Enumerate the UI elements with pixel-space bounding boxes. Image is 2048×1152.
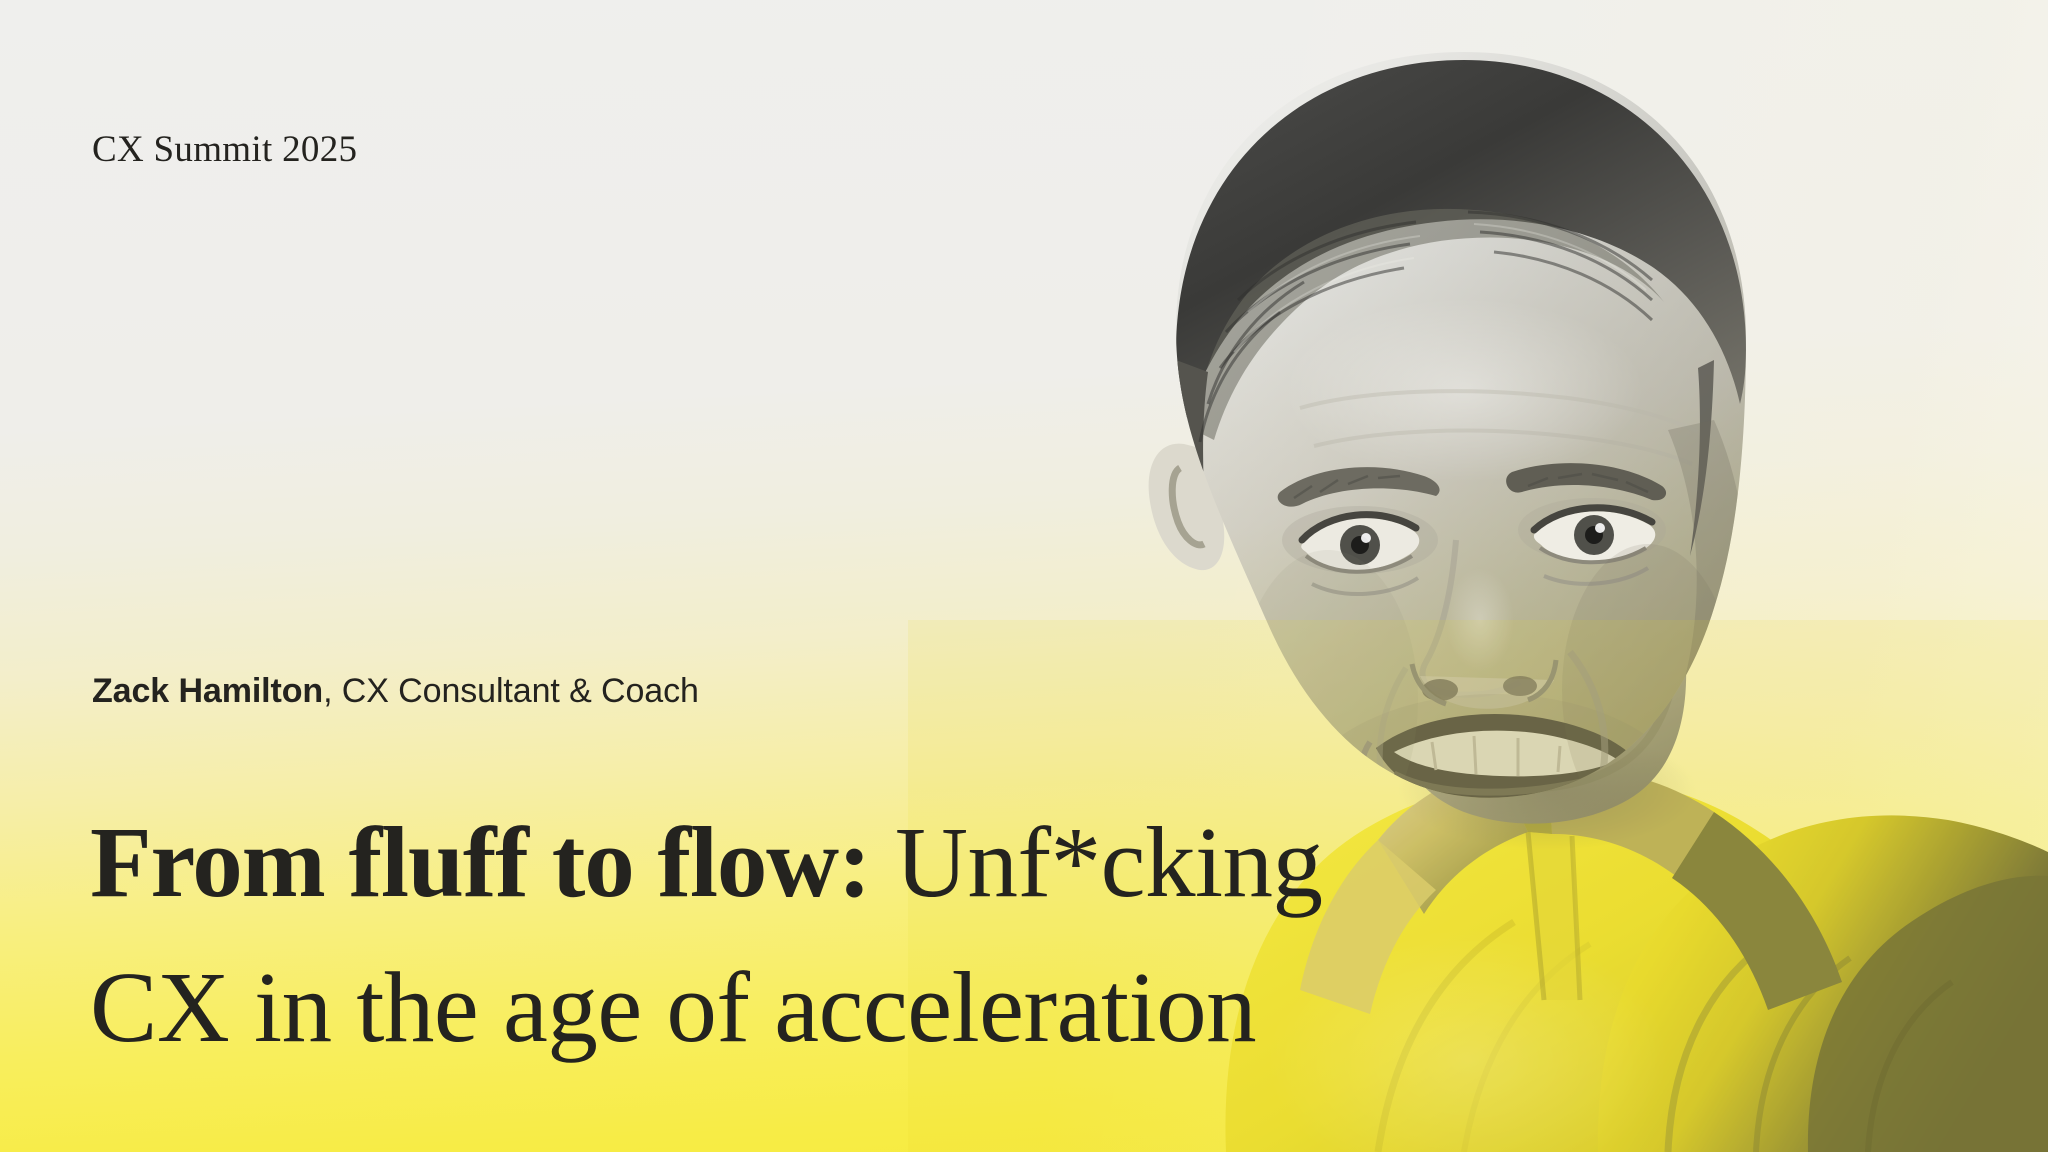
headline-line-1: From fluff to flow: Unf*cking bbox=[90, 790, 1690, 935]
headline-line-2: CX in the age of acceleration bbox=[90, 935, 1690, 1080]
speaker-line: Zack Hamilton, CX Consultant & Coach bbox=[92, 672, 699, 711]
slide-content: CX Summit 2025 Zack Hamilton, CX Consult… bbox=[0, 0, 2048, 1152]
talk-headline: From fluff to flow: Unf*cking CX in the … bbox=[90, 790, 1690, 1081]
speaker-separator: , bbox=[323, 672, 342, 710]
speaker-name: Zack Hamilton bbox=[92, 672, 323, 710]
headline-lead: From fluff to flow: bbox=[90, 806, 870, 918]
event-eyebrow: CX Summit 2025 bbox=[92, 128, 357, 171]
title-slide: CX Summit 2025 Zack Hamilton, CX Consult… bbox=[0, 0, 2048, 1152]
headline-rest-line-1: Unf*cking bbox=[870, 806, 1322, 918]
speaker-role: CX Consultant & Coach bbox=[342, 672, 699, 710]
